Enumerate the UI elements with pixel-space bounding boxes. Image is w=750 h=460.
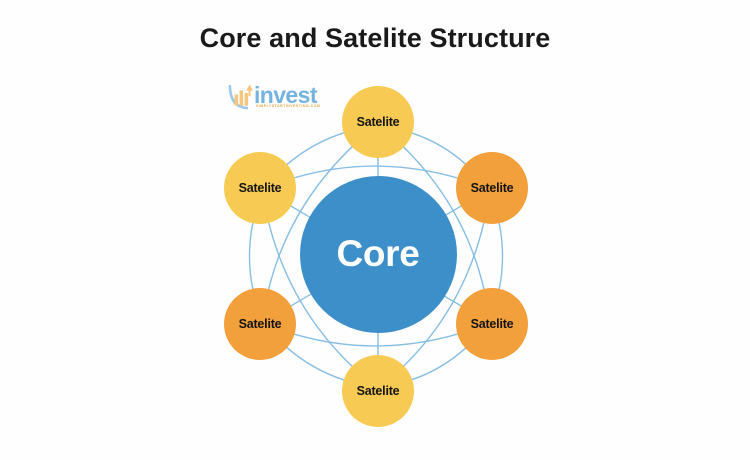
satellite-link xyxy=(286,347,344,380)
satellite-label: Satelite xyxy=(357,115,400,129)
satellite-link xyxy=(411,348,466,380)
satellite-node-lower-left[interactable]: Satelite xyxy=(224,288,296,360)
satellite-label: Satelite xyxy=(239,317,282,331)
core-satellite-diagram: Core Satelite Satelite Satelite Satelite… xyxy=(0,0,750,460)
satellite-node-upper-left[interactable]: Satelite xyxy=(224,152,296,224)
satellite-label: Satelite xyxy=(471,181,514,195)
core-label: Core xyxy=(336,233,419,275)
slide-canvas: Core and Satelite Structure invest SIMPL… xyxy=(0,0,750,460)
satellite-link xyxy=(294,334,459,346)
satellite-label: Satelite xyxy=(357,384,400,398)
satellite-link xyxy=(499,222,502,289)
satellite-node-bottom[interactable]: Satelite xyxy=(342,355,414,427)
core-node[interactable]: Core xyxy=(300,176,457,333)
satellite-link xyxy=(411,133,466,165)
satellite-label: Satelite xyxy=(471,317,514,331)
satellite-link xyxy=(286,133,344,165)
satellite-link xyxy=(249,222,252,289)
satellite-node-upper-right[interactable]: Satelite xyxy=(456,152,528,224)
satellite-label: Satelite xyxy=(239,181,282,195)
satellite-node-lower-right[interactable]: Satelite xyxy=(456,288,528,360)
satellite-node-top[interactable]: Satelite xyxy=(342,86,414,158)
